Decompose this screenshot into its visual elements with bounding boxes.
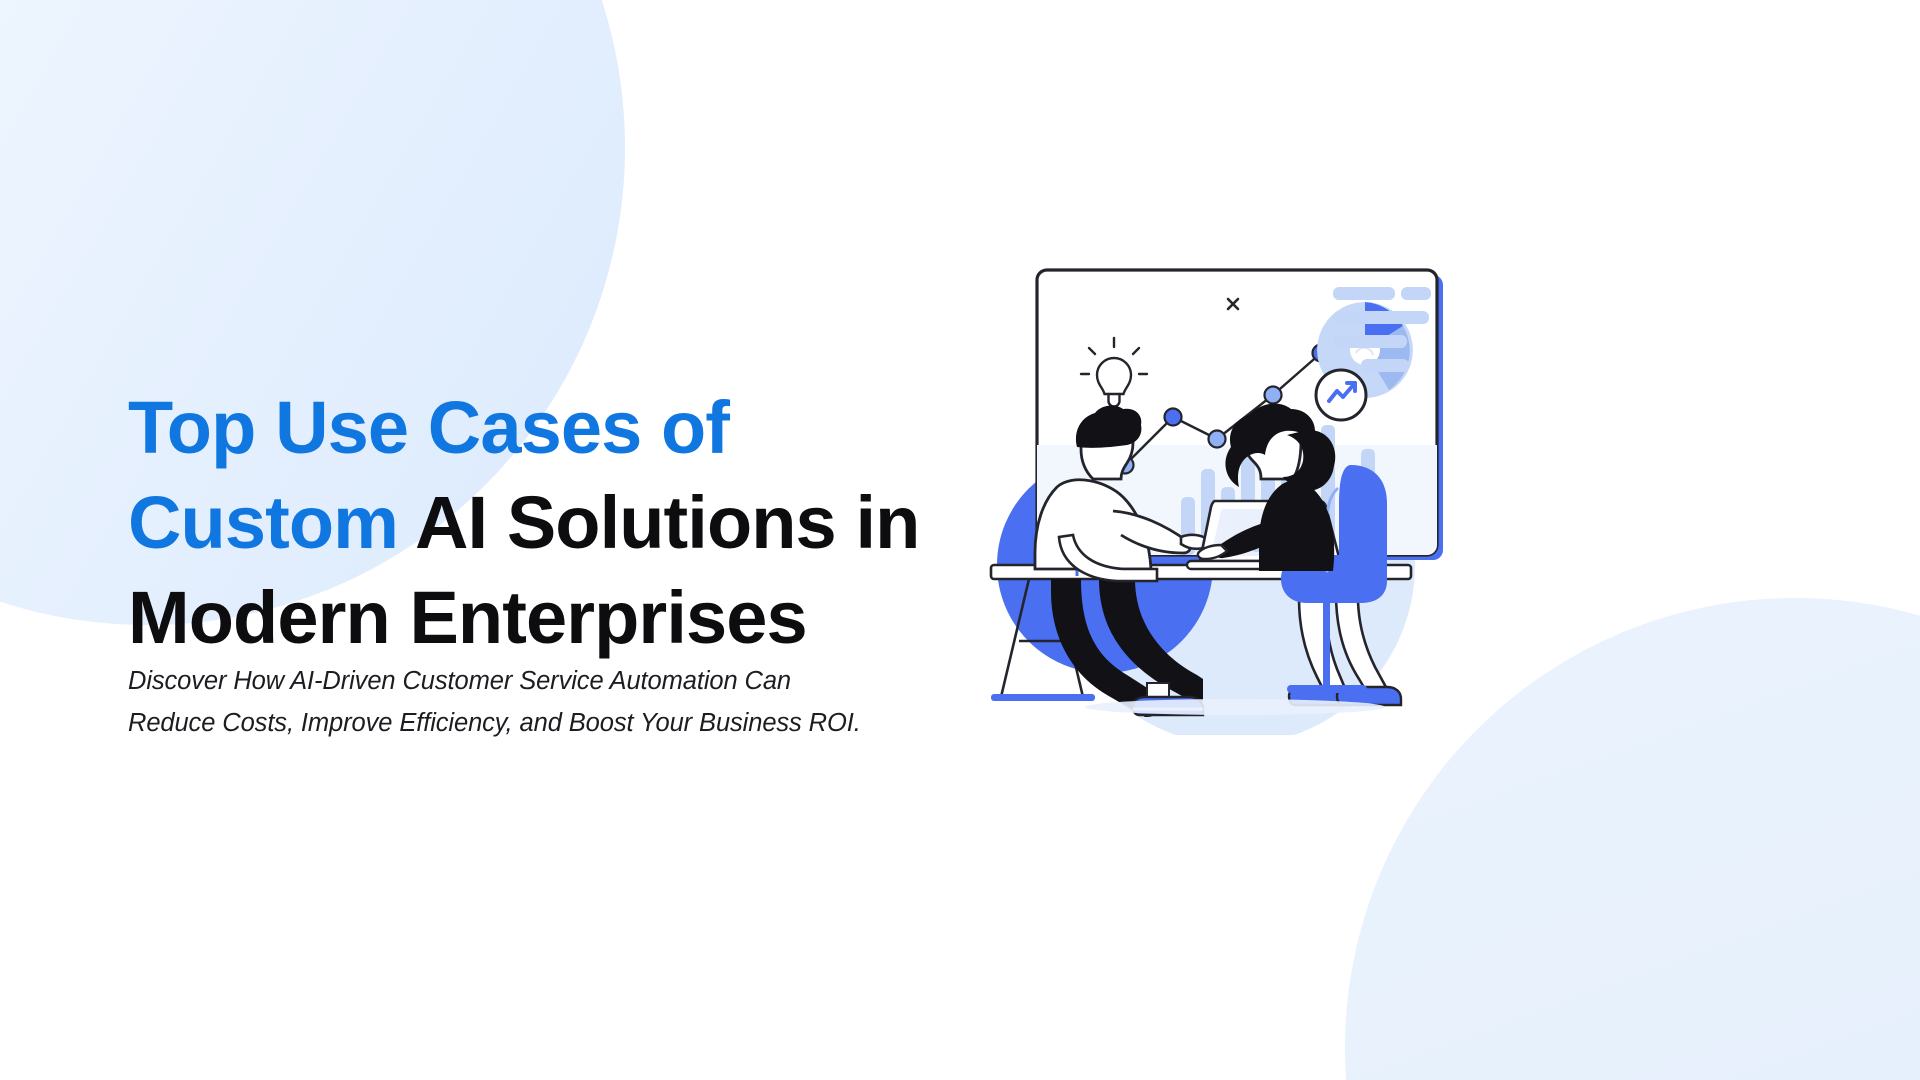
hero-banner: Top Use Cases of Custom AI Solutions in … (0, 0, 1920, 1080)
line-node (1165, 409, 1182, 426)
placeholder-row (1333, 335, 1407, 348)
placeholder-row (1333, 311, 1429, 324)
headline-line3: Modern Enterprises (128, 576, 807, 659)
placeholder-row (1333, 287, 1395, 300)
trending-up-icon (1316, 370, 1366, 420)
hero-subtitle: Discover How AI-Driven Customer Service … (128, 660, 958, 744)
hero-text-column: Top Use Cases of Custom AI Solutions in … (128, 380, 1078, 665)
headline-line1: Top Use Cases of (128, 386, 729, 469)
placeholder-row (1401, 287, 1431, 300)
subtitle-line1: Discover How AI-Driven Customer Service … (128, 667, 791, 695)
page-title: Top Use Cases of Custom AI Solutions in … (128, 380, 1078, 665)
line-node (1265, 387, 1282, 404)
placeholder-row (1361, 359, 1409, 372)
subtitle-line2: Reduce Costs, Improve Efficiency, and Bo… (128, 709, 861, 737)
floor-shadow (1085, 699, 1385, 715)
line-node (1209, 431, 1226, 448)
headline-line2-rest: AI Solutions in (398, 481, 919, 564)
hero-illustration (985, 235, 1485, 735)
headline-line2-accent: Custom (128, 481, 398, 564)
